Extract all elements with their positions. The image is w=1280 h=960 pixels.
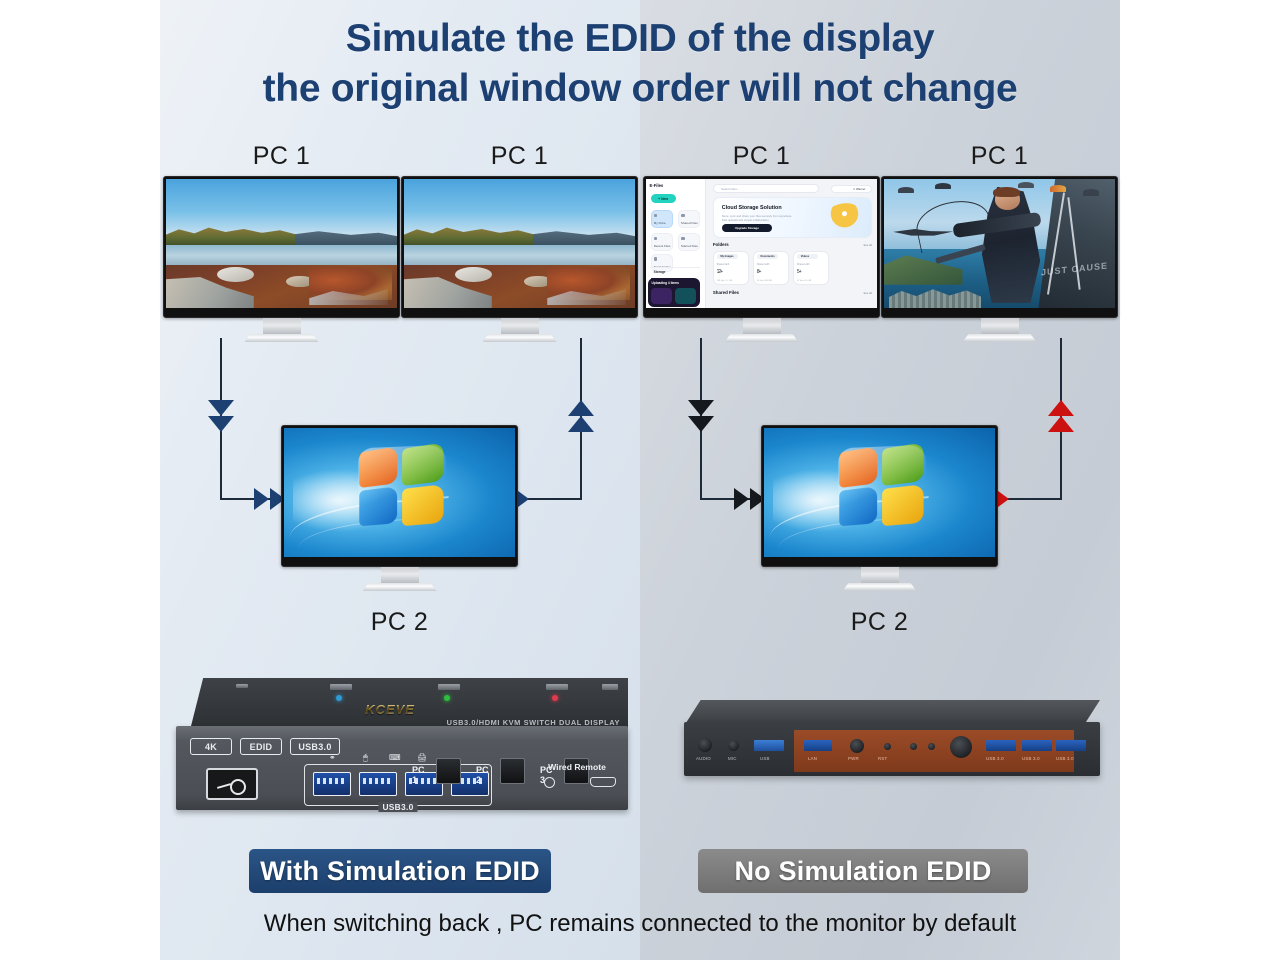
- cloud-storage-dashboard: E-Files + New My Drive Shared Files: [646, 179, 877, 308]
- monitor-display-area: JUST CAUSE: [884, 179, 1115, 308]
- device-port-bank: LAN PWR RST USB 3.0 USB 3.0 USB 3.0: [794, 730, 1074, 772]
- port-label: USB 3.0: [986, 756, 1004, 761]
- chevron-up-icon: [1048, 400, 1074, 416]
- folder-name-tag: My Images: [717, 254, 738, 259]
- remote-key-icon: [544, 777, 555, 788]
- monitor-left-center: [281, 425, 518, 567]
- chevron-down-icon: [688, 400, 714, 416]
- shared-files-heading: Shared Files: [713, 290, 739, 295]
- usb-port[interactable]: [986, 740, 1016, 751]
- pc1-button-cap[interactable]: [436, 758, 461, 784]
- folder-name-tag: Videos: [797, 254, 818, 259]
- device-front-panel: AUDIO MIC USB LAN PWR RST USB 3.0 USB 3.…: [684, 722, 1100, 776]
- brand-logo: KCEVE: [365, 702, 415, 717]
- usb-cable-icon: ⚭: [329, 753, 336, 762]
- search-placeholder: Search files...: [721, 187, 739, 191]
- keyboard-icon: ⌨: [389, 753, 401, 762]
- upload-panel: Uploading 4 items: [648, 278, 700, 306]
- folder-share-count: 8+: [757, 269, 761, 275]
- hero-title: Cloud Storage Solution: [722, 205, 782, 211]
- sidebar-item-label: Shared Files: [681, 221, 698, 225]
- folder-share-count: 12+: [717, 269, 722, 275]
- footnote-text: When switching back , PC remains connect…: [160, 910, 1120, 938]
- usb-group-label: USB3.0: [378, 802, 417, 812]
- sidebar-item-shared-files[interactable]: Shared Files: [678, 210, 700, 228]
- chevron-down-icon: [688, 416, 714, 432]
- usb-b-port: [602, 684, 618, 690]
- audio-jack[interactable]: [698, 738, 712, 752]
- badge-no-simulation-edid: No Simulation EDID: [698, 849, 1028, 893]
- star-icon: [681, 237, 685, 241]
- monitor-foot: [843, 583, 917, 591]
- kvm-front-panel: 4K EDID USB3.0 ⚭ 🖱 ⌨ 🖨 USB3.0 PC 1 PC 2: [176, 726, 628, 810]
- wired-remote-area: Wired Remote: [534, 762, 620, 772]
- monitor-label-right-2: PC 1: [881, 142, 1118, 171]
- trash-icon: [654, 257, 658, 261]
- monitor-display-area: [404, 179, 635, 308]
- upload-panel-label: Uploading 4 items: [651, 281, 678, 285]
- storage-label: Storage: [654, 270, 666, 274]
- monitor-display-area: [284, 428, 515, 557]
- usb-port[interactable]: [804, 740, 832, 751]
- folder-name-tag: Documents: [757, 254, 778, 259]
- monitor-right-1: E-Files + New My Drive Shared Files: [643, 176, 880, 318]
- port-label: USB: [760, 756, 770, 761]
- folder-file-info: 41 files 8.6 GB: [797, 280, 811, 282]
- power-jack[interactable]: [850, 739, 864, 753]
- badge-edid: EDID: [240, 738, 282, 755]
- chevron-right-icon: [734, 488, 749, 510]
- hdmi-port: [438, 684, 460, 690]
- monitor-screen: [401, 176, 638, 318]
- mic-jack[interactable]: [728, 740, 739, 751]
- monitor-left-2: [401, 176, 638, 318]
- shared-icon: [681, 214, 685, 218]
- new-button-label: + New: [651, 194, 676, 203]
- pc1-button-label: PC 1: [412, 765, 425, 785]
- sidebar-item-label: My Drive: [654, 221, 666, 225]
- landscape-wallpaper: [166, 179, 397, 308]
- indicator-hole: [928, 743, 935, 750]
- windows-logo-icon: [838, 445, 925, 529]
- monitor-label-right-1: PC 1: [643, 142, 880, 171]
- folder-share-count: 5+: [797, 269, 801, 275]
- chevron-up-icon: [1048, 416, 1074, 432]
- monitor-stand: [861, 567, 899, 583]
- monitor-stand: [981, 318, 1019, 334]
- kvm-top-panel: KCEVE USB3.0/HDMI KVM SWITCH DUAL DISPLA…: [190, 678, 628, 730]
- pc2-button-label: PC 2: [476, 765, 489, 785]
- port-label: MIC: [728, 756, 737, 761]
- dc-power-port: [236, 684, 248, 688]
- folder-shared-label: Shared with: [717, 263, 730, 266]
- port-label: PWR: [848, 756, 859, 761]
- monitor-screen: [761, 425, 998, 567]
- app-sidebar: E-Files + New My Drive Shared Files: [646, 179, 706, 308]
- wired-remote-label: Wired Remote: [534, 762, 620, 772]
- chevron-down-icon: [208, 416, 234, 432]
- monitor-stand: [381, 567, 419, 583]
- usb-port[interactable]: [754, 740, 784, 751]
- mouse-icon: 🖱: [363, 753, 368, 763]
- monitor-right-center: [761, 425, 998, 567]
- folders-heading: Folders: [713, 242, 729, 247]
- usb-port[interactable]: [1022, 740, 1052, 751]
- search-input[interactable]: Search files...: [713, 184, 819, 193]
- badge-4k: 4K: [190, 738, 232, 755]
- generic-kvm-device: AUDIO MIC USB LAN PWR RST USB 3.0 USB 3.…: [684, 700, 1100, 788]
- monitor-label-left-1: PC 1: [163, 142, 400, 171]
- game-screenshot: JUST CAUSE: [884, 179, 1115, 308]
- hero-subtitle: Store, sync and share your files securel…: [722, 214, 794, 222]
- sidebar-item-starred-files[interactable]: Starred Files: [678, 233, 700, 251]
- folder-card[interactable]: Documents Shared with 8+ 96 files 340 MB: [753, 251, 789, 286]
- upload-card: [651, 288, 672, 304]
- rocket-icon: [817, 199, 864, 238]
- rotary-knob[interactable]: [950, 736, 972, 758]
- shared-see-all[interactable]: See all: [863, 291, 872, 295]
- monitor-stand: [501, 318, 539, 334]
- windows7-wallpaper: [764, 428, 995, 557]
- chevron-down-icon: [208, 400, 234, 416]
- monitor-display-area: [764, 428, 995, 557]
- app-brand: E-Files: [650, 183, 664, 188]
- user-chip[interactable]: J. Warner: [831, 185, 872, 193]
- upload-card: [675, 288, 696, 304]
- folder-card[interactable]: My Images Shared with 12+ 248 files 1.2 …: [713, 251, 749, 286]
- monitor-screen: [281, 425, 518, 567]
- folder-file-info: 248 files 1.2 GB: [717, 280, 733, 282]
- folders-see-all[interactable]: See all: [863, 243, 872, 247]
- sidebar-item-recent-files[interactable]: Recent Files: [651, 233, 673, 251]
- monitor-left-1: [163, 176, 400, 318]
- usb-port[interactable]: [1056, 740, 1086, 751]
- printer-icon: 🖨: [417, 753, 427, 762]
- port-label: RST: [878, 756, 887, 761]
- user-name: J. Warner: [853, 187, 865, 191]
- windows-logo-icon: [358, 445, 445, 529]
- led-indicator-red: [552, 695, 558, 701]
- windows7-wallpaper: [284, 428, 515, 557]
- folder-card[interactable]: Videos Shared with 5+ 41 files 8.6 GB: [793, 251, 829, 286]
- monitor-label-right-center: PC 2: [761, 608, 998, 637]
- folder-shared-label: Shared with: [797, 263, 810, 266]
- monitor-screen: E-Files + New My Drive Shared Files: [643, 176, 880, 318]
- monitor-right-2: JUST CAUSE: [881, 176, 1118, 318]
- usb-port[interactable]: [313, 772, 351, 796]
- port-label: USB 3.0: [1022, 756, 1040, 761]
- hdmi-port: [330, 684, 352, 690]
- monitor-screen: [163, 176, 400, 318]
- monitor-stand: [743, 318, 781, 334]
- sidebar-item-label: Starred Files: [681, 244, 698, 248]
- chevron-up-icon: [568, 400, 594, 416]
- hdmi-port: [546, 684, 568, 690]
- power-switch[interactable]: [206, 768, 258, 800]
- app-main-area: Search files... J. Warner Cloud Storage …: [706, 179, 877, 308]
- port-label: USB 3.0: [1056, 756, 1074, 761]
- monitor-foot: [363, 583, 437, 591]
- chevron-right-icon: [254, 488, 269, 510]
- infographic-page: Simulate the EDID of the display the ori…: [0, 0, 1280, 960]
- reset-button[interactable]: [884, 743, 891, 750]
- monitor-label-left-center: PC 2: [281, 608, 518, 637]
- landscape-wallpaper: [404, 179, 635, 308]
- micro-usb-port[interactable]: [590, 777, 616, 787]
- monitor-display-area: E-Files + New My Drive Shared Files: [646, 179, 877, 308]
- led-indicator-blue: [336, 695, 342, 701]
- hero-banner: Cloud Storage Solution Store, sync and s…: [713, 197, 872, 238]
- new-button[interactable]: + New: [651, 194, 676, 203]
- pc2-button-cap[interactable]: [500, 758, 525, 784]
- monitor-screen: JUST CAUSE: [881, 176, 1118, 318]
- sidebar-item-my-drive[interactable]: My Drive: [651, 210, 673, 228]
- led-indicator-green: [444, 695, 450, 701]
- usb-port[interactable]: [359, 772, 397, 796]
- upgrade-storage-label: Upgrade Storage: [722, 224, 772, 232]
- port-label: AUDIO: [696, 756, 711, 761]
- chevron-up-icon: [568, 416, 594, 432]
- kvm-switch-device: KCEVE USB3.0/HDMI KVM SWITCH DUAL DISPLA…: [176, 678, 628, 810]
- upgrade-storage-button[interactable]: Upgrade Storage: [722, 224, 772, 232]
- clock-icon: [654, 237, 658, 241]
- folder-shared-label: Shared with: [757, 263, 770, 266]
- sidebar-item-label: Recent Files: [654, 244, 671, 248]
- monitor-stand: [263, 318, 301, 334]
- usb-port-group: ⚭ 🖱 ⌨ 🖨 USB3.0: [304, 764, 492, 806]
- monitor-label-left-2: PC 1: [401, 142, 638, 171]
- drive-icon: [654, 214, 658, 218]
- badge-with-simulation-edid: With Simulation EDID: [249, 849, 551, 893]
- folder-file-info: 96 files 340 MB: [757, 280, 772, 282]
- indicator-hole: [910, 743, 917, 750]
- monitor-display-area: [166, 179, 397, 308]
- port-label: LAN: [808, 756, 817, 761]
